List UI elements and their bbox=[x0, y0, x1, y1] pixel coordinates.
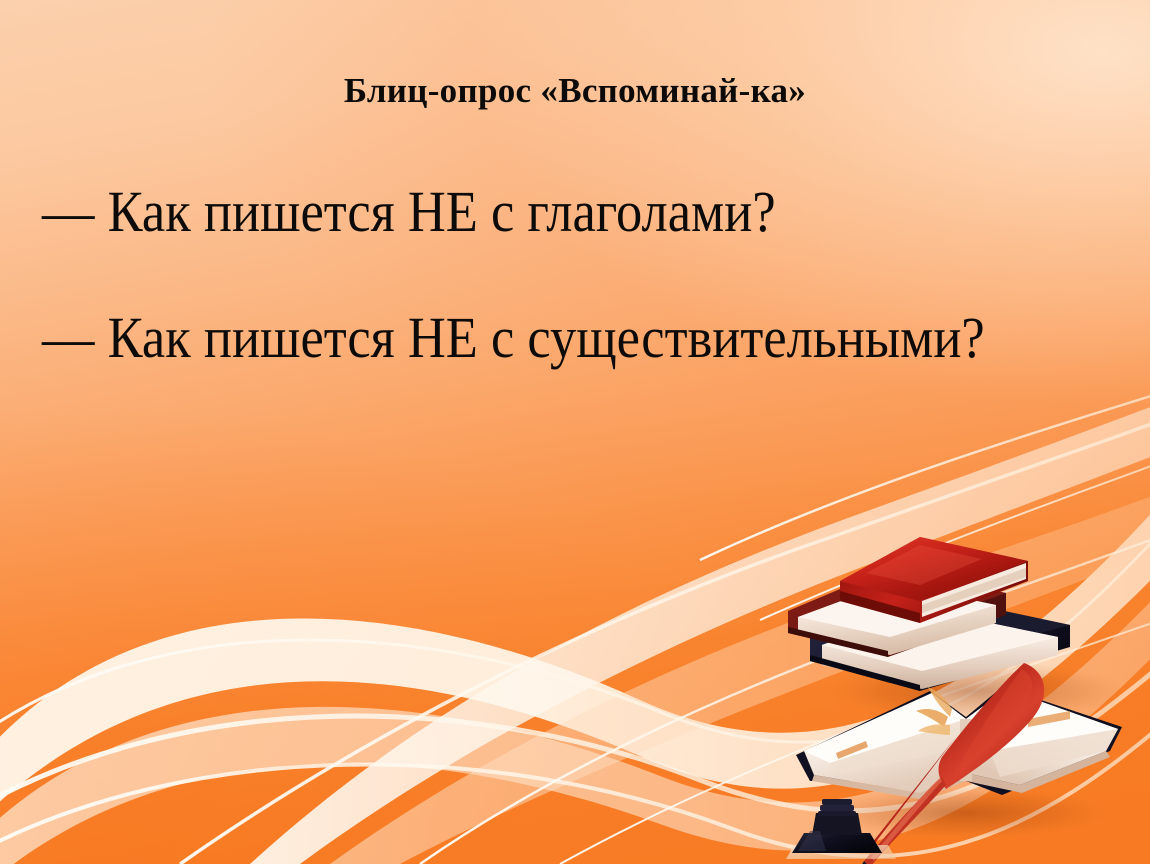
question-line-2: — Как пишется НЕ с существительными? bbox=[42, 304, 985, 371]
question-line-1: — Как пишется НЕ с глаголами? bbox=[42, 178, 776, 245]
page-title: Блиц-опрос «Вспоминай-ка» bbox=[0, 71, 1150, 111]
books-illustration bbox=[770, 495, 1150, 864]
slide-canvas: Блиц-опрос «Вспоминай-ка» — Как пишется … bbox=[0, 0, 1150, 864]
